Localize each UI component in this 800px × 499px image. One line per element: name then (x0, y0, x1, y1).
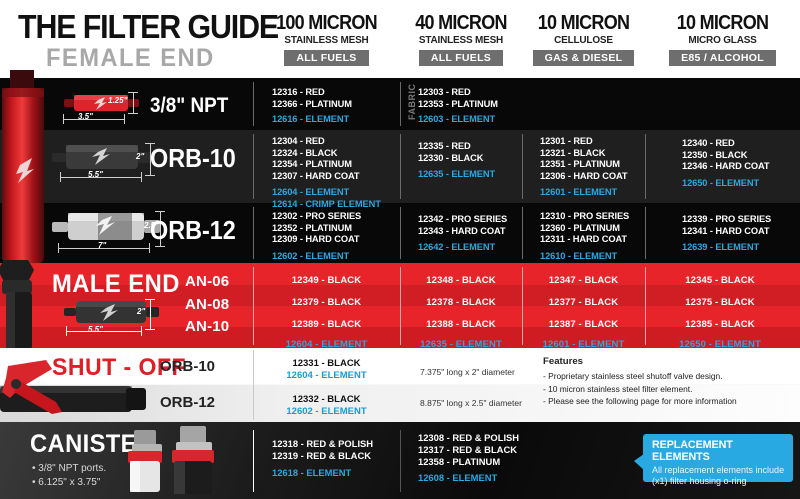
male-cell: 12347 - BLACK (522, 275, 645, 286)
canister-bullet: • 6.125" x 3.75" (32, 476, 106, 490)
column-fuel-badge-4: E85 / ALCOHOL (669, 50, 776, 66)
male-filter-product-image (62, 297, 168, 327)
dimension-tick (60, 172, 61, 182)
column-divider (522, 134, 523, 199)
an-size-label-08: AN-08 (185, 296, 229, 313)
cell-orb12-40micron: 12342 - PRO SERIES 12343 - HARD COAT 126… (418, 214, 507, 254)
dimension-length-orb10: 5.5" (88, 170, 103, 179)
dimension-tick (145, 329, 155, 330)
column-material-2: STAINLESS MESH (403, 33, 519, 47)
part-number: 12324 - BLACK (272, 148, 381, 160)
shut-off-dimension-orb12: 8.875" long x 2.5" diameter (420, 398, 522, 408)
part-number: 12331 - BLACK (253, 358, 400, 370)
column-divider (522, 207, 523, 259)
canister-bullet: • 3/8" NPT ports. (32, 462, 106, 476)
element-part-number: 12610 - ELEMENT (540, 251, 629, 263)
column-divider (253, 134, 254, 199)
shut-off-part-cell-orb10: 12331 - BLACK 12604 - ELEMENT (253, 358, 400, 382)
part-number: 12308 - RED & POLISH (418, 432, 519, 444)
canister-product-images (120, 424, 230, 496)
part-number: 12304 - RED (272, 136, 381, 148)
dimension-diameter-male: 2" (137, 307, 145, 316)
column-divider (253, 82, 254, 126)
element-part-number: 12642 - ELEMENT (418, 242, 507, 254)
element-part-number: 12608 - ELEMENT (418, 472, 519, 484)
part-number: 12351 - PLATINUM (540, 159, 628, 171)
column-micron-3: 10 MICRON (528, 14, 639, 33)
male-cell: 12388 - BLACK (400, 319, 522, 330)
part-number: 12341 - HARD COAT (682, 226, 771, 238)
male-cell: 12345 - BLACK (645, 275, 795, 286)
part-number: 12306 - HARD COAT (540, 171, 628, 183)
dimension-tick (63, 114, 64, 124)
part-number: 12309 - HARD COAT (272, 234, 361, 246)
column-material-3: CELLULOSE (525, 33, 642, 47)
part-number: 12317 - RED & BLACK (418, 444, 519, 456)
part-number: 12321 - BLACK (540, 148, 628, 160)
red-bottle-product-image (0, 70, 52, 270)
part-number: 12354 - PLATINUM (272, 159, 381, 171)
element-part-number: 12618 - ELEMENT (272, 467, 373, 479)
shut-off-label-orb12: ORB-12 (160, 394, 215, 411)
part-number: 12330 - BLACK (418, 153, 495, 165)
row-label-npt: 3/8" NPT (150, 94, 228, 118)
male-cell: 12377 - BLACK (522, 297, 645, 308)
column-divider (253, 430, 254, 492)
callout-body: All replacement elements include (x1) fi… (652, 465, 786, 487)
features-block: Features - Proprietary stainless steel s… (543, 356, 737, 408)
element-part-number: 12635 - ELEMENT (418, 169, 495, 181)
column-divider (253, 207, 254, 259)
male-cell: 12385 - BLACK (645, 319, 795, 330)
canister-specs: • 3/8" NPT ports. • 6.125" x 3.75" (32, 462, 106, 490)
dimension-diameter-orb10: 2" (136, 152, 144, 161)
page-subtitle: FEMALE END (46, 44, 215, 73)
column-fuel-badge-2: ALL FUELS (419, 50, 503, 66)
dimension-tick (145, 175, 155, 176)
column-divider (400, 430, 401, 492)
cell-orb12-10micron-cellulose: 12310 - PRO SERIES 12360 - PLATINUM 1231… (540, 211, 629, 262)
column-header-4: 10 MICRON MICRO GLASS E85 / ALCOHOL (645, 14, 800, 66)
part-number: 12339 - PRO SERIES (682, 214, 771, 226)
dimension-tick (66, 326, 67, 336)
dimension-line (63, 119, 125, 120)
an-size-label-06: AN-06 (185, 273, 229, 290)
column-divider (645, 134, 646, 199)
element-part-number: 12602 - ELEMENT (253, 406, 400, 418)
page-header: THE FILTER GUIDE FEMALE END 100 MICRON S… (0, 0, 800, 78)
filter-guide-page: THE FILTER GUIDE FEMALE END 100 MICRON S… (0, 0, 800, 499)
male-end-title: MALE END (52, 270, 180, 299)
male-cell: 12349 - BLACK (253, 275, 400, 286)
cell-orb10-40micron: 12335 - RED 12330 - BLACK 12635 - ELEMEN… (418, 141, 495, 181)
part-number: 12311 - HARD COAT (540, 234, 629, 246)
shut-off-dimension-orb10: 7.375" long x 2" diameter (420, 367, 515, 377)
part-number: 12340 - RED (682, 138, 770, 150)
shut-off-part-cell-orb12: 12332 - BLACK 12602 - ELEMENT (253, 394, 400, 418)
canister-cell-right: 12308 - RED & POLISH 12317 - RED & BLACK… (418, 432, 519, 484)
column-material-1: STAINLESS MESH (257, 33, 397, 47)
column-header-2: 40 MICRON STAINLESS MESH ALL FUELS (400, 14, 522, 66)
part-number: 12332 - BLACK (253, 394, 400, 406)
cell-orb10-100micron: 12304 - RED 12324 - BLACK 12354 - PLATIN… (272, 136, 381, 211)
cell-orb10-10micron-cellulose: 12301 - RED 12321 - BLACK 12351 - PLATIN… (540, 136, 628, 199)
dimension-length-male: 5.5" (88, 325, 103, 334)
part-number: 12366 - PLATINUM (272, 99, 352, 111)
dimension-tick (58, 243, 59, 253)
male-cell: 12348 - BLACK (400, 275, 522, 286)
male-cell: 12389 - BLACK (253, 319, 400, 330)
element-part-number: 12603 - ELEMENT (418, 114, 498, 126)
dimension-diameter-npt: 1.25" (108, 96, 127, 105)
fabric-tag-label: FABRIC (407, 84, 417, 121)
male-cell: 12378 - BLACK (400, 297, 522, 308)
column-header-3: 10 MICRON CELLULOSE GAS & DIESEL (522, 14, 645, 66)
column-divider (645, 207, 646, 259)
dimension-line (150, 299, 151, 330)
column-micron-4: 10 MICRON (653, 14, 793, 33)
cell-orb12-100micron: 12302 - PRO SERIES 12352 - PLATINUM 1230… (272, 211, 361, 262)
part-number: 12353 - PLATINUM (418, 99, 498, 111)
column-divider (400, 82, 401, 126)
dimension-tick (128, 113, 138, 114)
element-part-number: 12650 - ELEMENT (682, 178, 770, 190)
callout-title: REPLACEMENT ELEMENTS (652, 439, 781, 463)
element-part-number: 12604 - ELEMENT (253, 370, 400, 382)
element-part-number: 12614 - CRIMP ELEMENT (272, 199, 381, 211)
female-end-table: 3.5" 1.25" 5.5" 2" (0, 78, 800, 263)
an-fitting-product-image (0, 258, 44, 354)
part-number: 12301 - RED (540, 136, 628, 148)
column-micron-2: 40 MICRON (406, 14, 516, 33)
column-material-4: MICRO GLASS (649, 33, 796, 47)
dimension-tick (141, 326, 142, 336)
cell-orb12-10micron-microglass: 12339 - PRO SERIES 12341 - HARD COAT 126… (682, 214, 771, 254)
canister-cell-left: 12318 - RED & POLISH 12319 - RED & BLACK… (272, 438, 373, 478)
column-fuel-badge-3: GAS & DIESEL (533, 50, 635, 66)
column-divider (400, 207, 401, 259)
features-title: Features (543, 356, 737, 368)
part-number: 12302 - PRO SERIES (272, 211, 361, 223)
column-fuel-badge-1: ALL FUELS (284, 50, 368, 66)
dimension-line (133, 92, 134, 114)
part-number: 12303 - RED (418, 87, 498, 99)
dimension-tick (155, 211, 165, 212)
cell-orb10-10micron-microglass: 12340 - RED 12350 - BLACK 12346 - HARD C… (682, 138, 770, 189)
cell-npt-40micron: 12303 - RED 12353 - PLATINUM 12603 - ELE… (418, 87, 498, 126)
dimension-tick (128, 92, 138, 93)
column-header-1: 100 MICRON STAINLESS MESH ALL FUELS (253, 14, 400, 66)
dimension-tick (124, 114, 125, 124)
part-number: 12318 - RED & POLISH (272, 438, 373, 450)
feature-item: - Proprietary stainless steel shutoff va… (543, 370, 737, 382)
dimension-length-npt: 3.5" (78, 112, 93, 121)
male-cell: 12379 - BLACK (253, 297, 400, 308)
part-number: 12342 - PRO SERIES (418, 214, 507, 226)
part-number: 12350 - BLACK (682, 150, 770, 162)
element-part-number: 12639 - ELEMENT (682, 242, 771, 254)
part-number: 12346 - HARD COAT (682, 161, 770, 173)
male-cell: 12387 - BLACK (522, 319, 645, 330)
part-number: 12335 - RED (418, 141, 495, 153)
element-part-number: 12602 - ELEMENT (272, 251, 361, 263)
cell-npt-100micron: 12316 - RED 12366 - PLATINUM 12616 - ELE… (272, 87, 352, 126)
feature-item: - 10 micron stainless steel filter eleme… (543, 383, 737, 395)
dimension-line (66, 331, 142, 332)
replacement-elements-callout: REPLACEMENT ELEMENTS All replacement ele… (643, 434, 793, 482)
part-number: 12360 - PLATINUM (540, 223, 629, 235)
dimension-tick (141, 172, 142, 182)
dimension-length-orb12: 7" (98, 241, 106, 250)
feature-item: - Please see the following page for more… (543, 395, 737, 407)
an-size-label-10: AN-10 (185, 318, 229, 335)
page-title: THE FILTER GUIDE (18, 8, 278, 46)
part-number: 12319 - RED & BLACK (272, 450, 373, 462)
part-number: 12316 - RED (272, 87, 352, 99)
dimension-tick (145, 299, 155, 300)
part-number: 12358 - PLATINUM (418, 456, 519, 468)
element-part-number: 12601 - ELEMENT (540, 187, 628, 199)
element-part-number: 12604 - ELEMENT (272, 187, 381, 199)
male-cell: 12375 - BLACK (645, 297, 795, 308)
element-part-number: 12616 - ELEMENT (272, 114, 352, 126)
dimension-tick (155, 246, 165, 247)
row-label-orb10: ORB-10 (150, 143, 236, 174)
part-number: 12310 - PRO SERIES (540, 211, 629, 223)
part-number: 12307 - HARD COAT (272, 171, 381, 183)
part-number: 12343 - HARD COAT (418, 226, 507, 238)
row-label-orb12: ORB-12 (150, 215, 236, 246)
column-divider (400, 134, 401, 199)
column-micron-1: 100 MICRON (260, 14, 392, 33)
shut-off-label-orb10: ORB-10 (160, 358, 215, 375)
part-number: 12352 - PLATINUM (272, 223, 361, 235)
